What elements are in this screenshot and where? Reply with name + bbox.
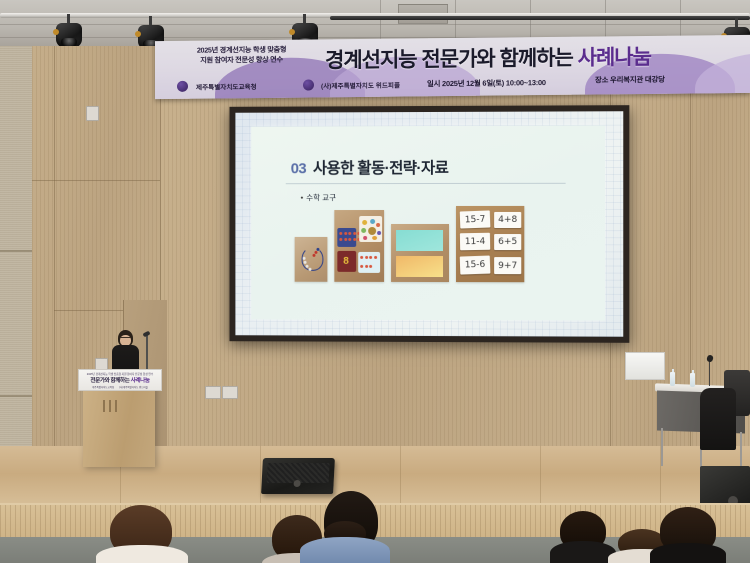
ceiling-cable-run — [330, 16, 750, 20]
slide-bullet-item: •수학 교구 — [301, 192, 336, 203]
math-card: 11-4 — [460, 233, 490, 251]
small-whiteboard — [625, 352, 665, 380]
podium-sign-title-accent: 사례나눔 — [131, 378, 150, 384]
mint-worksheet — [396, 230, 443, 251]
banner-logo-withpeople: (사)제주특별자치도 위드피플 — [303, 79, 400, 91]
acoustic-wall-panel — [0, 46, 32, 466]
slide-photo-row: 8 — [295, 206, 525, 282]
withpeople-logo-icon — [303, 79, 314, 90]
audience-member — [300, 521, 390, 563]
podium-sign-logos: 제주특별자치도교육청 (사)제주특별자치도 위드피플 — [79, 385, 161, 389]
slide-heading: 03사용한 활동·전략·자료 — [291, 156, 449, 178]
bullet-dot-icon: • — [301, 193, 304, 202]
slide-title-text: 사용한 활동·전략·자료 — [313, 160, 448, 177]
audience-member — [650, 507, 726, 563]
banner-title-accent: 사례나눔 — [578, 46, 651, 70]
ceiling-seam — [0, 24, 750, 25]
math-card: 9+7 — [494, 257, 521, 274]
seated-attendant — [700, 388, 736, 450]
podium-sign-logo2: (사)제주특별자치도 위드피플 — [119, 385, 148, 389]
podium-slat-decoration — [103, 400, 117, 412]
projection-screen: 03사용한 활동·전략·자료 •수학 교구 — [235, 111, 623, 337]
education-office-logo-icon — [177, 81, 188, 92]
glasses-icon — [120, 337, 131, 341]
banner-logo-education-office: 제주특별자치도교육청 — [177, 80, 257, 92]
audience-member — [96, 505, 188, 563]
slide-divider — [286, 183, 566, 184]
podium-sign-logo1: 제주특별자치도교육청 — [92, 385, 114, 389]
podium-sign-subtitle: 2025년 경계선지능 학생 맞춤형 지원 참여자 전문성 향상 연수 — [79, 372, 161, 376]
podium-sign-title-main: 전문가와 함께하는 — [90, 378, 129, 384]
banner-venue: 장소 우리복지관 대강당 — [595, 74, 665, 86]
math-card: 6+5 — [494, 234, 521, 250]
slide-number: 03 — [291, 160, 306, 177]
projection-screen-frame: 03사용한 활동·전략·자료 •수학 교구 — [229, 105, 629, 343]
water-bottle — [690, 373, 695, 387]
ten-frame-blue-card — [337, 228, 356, 247]
banner-title-main: 경계선지능 전문가와 함께하는 — [325, 47, 573, 73]
slide-photo-number-cards: 8 — [334, 210, 384, 282]
event-banner: 2025년 경계선지능 학생 맞춤형 지원 참여자 전문성 향상 연수 경계선지… — [155, 35, 750, 99]
banner-subtitle: 2025년 경계선지능 학생 맞춤형 지원 참여자 전문성 향상 연수 — [169, 44, 314, 65]
wall-outlet[interactable] — [205, 386, 221, 399]
math-card: 4+8 — [494, 212, 521, 228]
slide-photo-math-cards: 15-7 4+8 11-4 6+5 15-6 9+7 — [456, 206, 524, 282]
slide-bullet-text: 수학 교구 — [306, 193, 336, 202]
banner-logo1-label: 제주특별자치도교육청 — [196, 81, 257, 92]
banner-title: 경계선지능 전문가와 함께하는 사례나눔 — [325, 41, 651, 74]
math-card: 15-7 — [460, 210, 491, 228]
stage-monitor-speaker — [261, 458, 335, 494]
podium-sign-title: 전문가와 함께하는 사례나눔 — [79, 376, 161, 384]
yellow-worksheet — [396, 256, 443, 277]
math-card: 15-6 — [460, 256, 491, 275]
audience-member — [550, 511, 616, 563]
polka-game-box — [359, 216, 382, 242]
number-card-value: 8 — [343, 256, 349, 267]
slide-photo-rekenrek — [295, 237, 328, 282]
podium-sign: 2025년 경계선지능 학생 맞춤형 지원 참여자 전문성 향상 연수 전문가와… — [78, 369, 162, 391]
wall-outlet[interactable] — [222, 386, 238, 399]
rekenrek-icon — [300, 245, 324, 273]
water-bottle — [670, 372, 675, 386]
dot-pattern-card — [358, 252, 380, 273]
presentation-slide: 03사용한 활동·전략·자료 •수학 교구 — [251, 125, 605, 320]
number-card-eight: 8 — [337, 251, 356, 272]
banner-subtitle-line2: 지원 참여자 전문성 향상 연수 — [169, 54, 314, 65]
slide-photo-worksheets — [391, 224, 449, 282]
seminar-hall-photo: 2025년 경계선지능 학생 맞춤형 지원 참여자 전문성 향상 연수 경계선지… — [0, 0, 750, 563]
table-microphone — [709, 360, 710, 386]
banner-logo2-label: (사)제주특별자치도 위드피플 — [321, 79, 400, 90]
stage-light-icon — [56, 14, 82, 48]
wall-switch[interactable] — [86, 106, 99, 121]
banner-datetime: 일시 2025년 12월 6일(토) 10:00~13:00 — [427, 77, 546, 89]
